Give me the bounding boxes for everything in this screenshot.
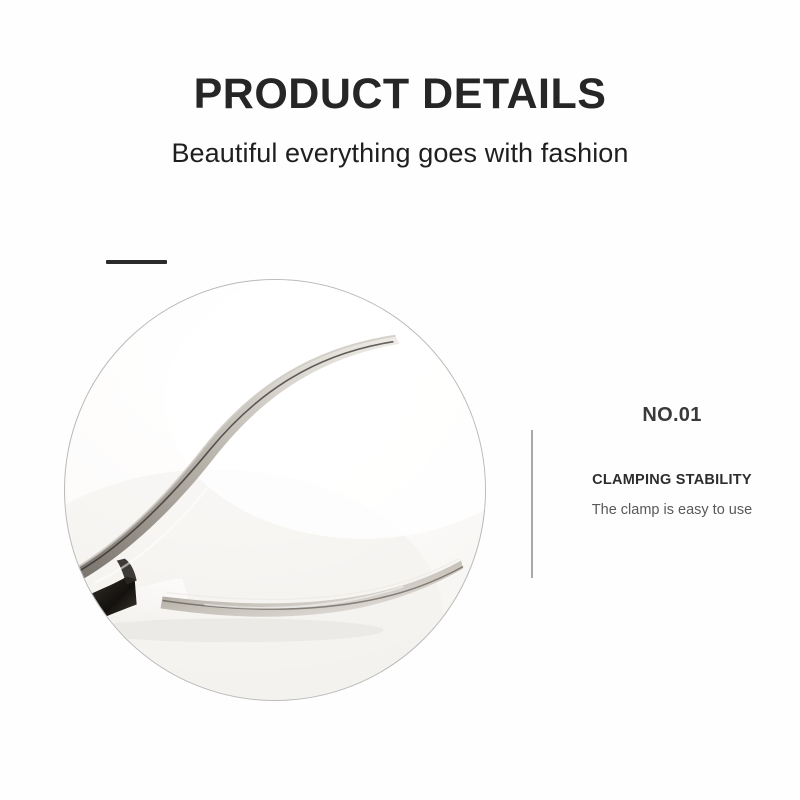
detail-block: NO.01 CLAMPING STABILITY The clamp is ea… bbox=[556, 404, 788, 518]
product-photo-circle bbox=[64, 279, 486, 701]
detail-divider bbox=[531, 430, 533, 578]
page-subtitle: Beautiful everything goes with fashion bbox=[0, 118, 800, 169]
product-details-page: PRODUCT DETAILS Beautiful everything goe… bbox=[0, 0, 800, 800]
detail-caption: The clamp is easy to use bbox=[556, 488, 788, 518]
accent-dash bbox=[106, 260, 167, 264]
detail-heading: CLAMPING STABILITY bbox=[556, 427, 788, 488]
header: PRODUCT DETAILS Beautiful everything goe… bbox=[0, 72, 800, 169]
detail-number: NO.01 bbox=[556, 404, 788, 427]
page-title: PRODUCT DETAILS bbox=[0, 72, 800, 118]
tweezers-photo-illustration bbox=[65, 280, 485, 700]
